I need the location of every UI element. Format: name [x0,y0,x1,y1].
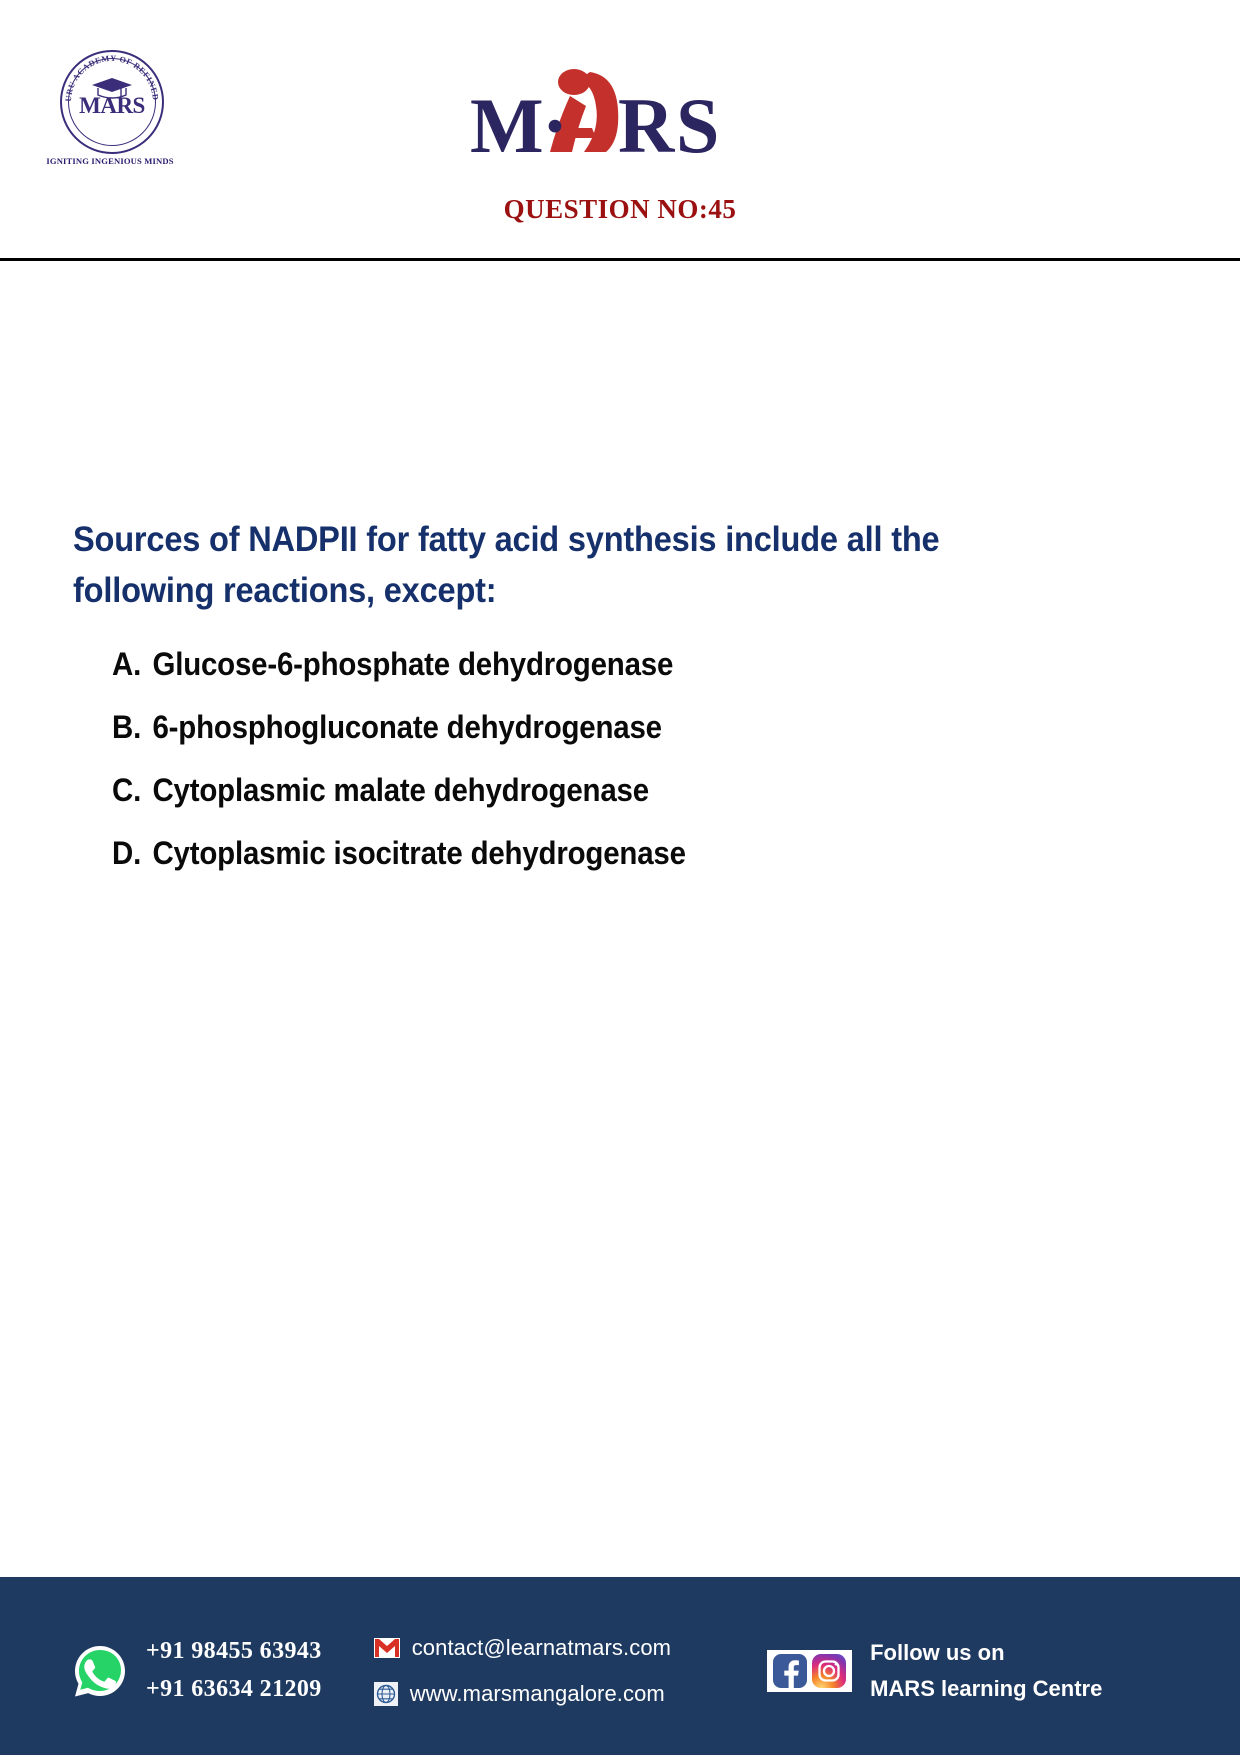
option-b-text: 6-phosphogluconate dehydrogenase [152,709,661,746]
question-number-heading: QUESTION NO:45 [0,194,1240,225]
footer-phone-2[interactable]: +91 63634 21209 [146,1671,322,1709]
gmail-icon [374,1638,400,1658]
svg-text:M: M [470,82,544,160]
mars-wordmark-logo: M · R S [466,52,736,160]
option-c-letter: C. [112,772,152,809]
instagram-icon[interactable] [812,1654,846,1688]
facebook-icon[interactable] [773,1654,807,1688]
footer-email: contact@learnatmars.com [412,1631,671,1665]
option-a-letter: A. [112,646,152,683]
footer-contact-block: contact@learnatmars.com www.marsmangalor… [374,1631,671,1711]
option-d-letter: D. [112,835,152,872]
option-b[interactable]: B. 6-phosphogluconate dehydrogenase [112,709,1032,746]
page-header: MANGALURU ACADEMY OF REFINED STUDIES MAR… [0,0,1240,262]
seal-monogram: MARS [60,94,164,117]
option-c[interactable]: C. Cytoplasmic malate dehydrogenase [112,772,1032,809]
option-a-text: Glucose-6-phosphate dehydrogenase [152,646,673,683]
page-footer: +91 98455 63943 +91 63634 21209 contact@… [0,1577,1240,1755]
globe-icon [374,1682,398,1706]
footer-phone-block: +91 98455 63943 +91 63634 21209 [72,1633,322,1709]
svg-text:S: S [676,82,719,160]
svg-text:R: R [618,82,676,160]
academy-seal-logo: MANGALURU ACADEMY OF REFINED STUDIES MAR… [44,48,176,172]
footer-social-handle: MARS learning Centre [870,1671,1102,1707]
social-icons-group [767,1650,852,1692]
footer-social-block: Follow us on MARS learning Centre [767,1635,1102,1706]
options-list: A. Glucose-6-phosphate dehydrogenase B. … [112,646,1112,898]
main-content: Sources of NADPII for fatty acid synthes… [0,262,1240,1577]
header-divider [0,258,1240,261]
option-d[interactable]: D. Cytoplasmic isocitrate dehydrogenase [112,835,1032,872]
option-b-letter: B. [112,709,152,746]
question-text: Sources of NADPII for fatty acid synthes… [73,514,1059,616]
footer-email-row[interactable]: contact@learnatmars.com [374,1631,671,1665]
whatsapp-icon[interactable] [72,1643,128,1699]
option-c-text: Cytoplasmic malate dehydrogenase [152,772,648,809]
footer-website: www.marsmangalore.com [410,1677,665,1711]
option-a[interactable]: A. Glucose-6-phosphate dehydrogenase [112,646,1032,683]
option-d-text: Cytoplasmic isocitrate dehydrogenase [152,835,685,872]
footer-follow-label: Follow us on [870,1635,1102,1671]
svg-text:·: · [542,82,568,160]
footer-website-row[interactable]: www.marsmangalore.com [374,1677,671,1711]
footer-phone-1[interactable]: +91 98455 63943 [146,1633,322,1671]
seal-tagline: IGNITING INGENIOUS MINDS [44,156,176,166]
